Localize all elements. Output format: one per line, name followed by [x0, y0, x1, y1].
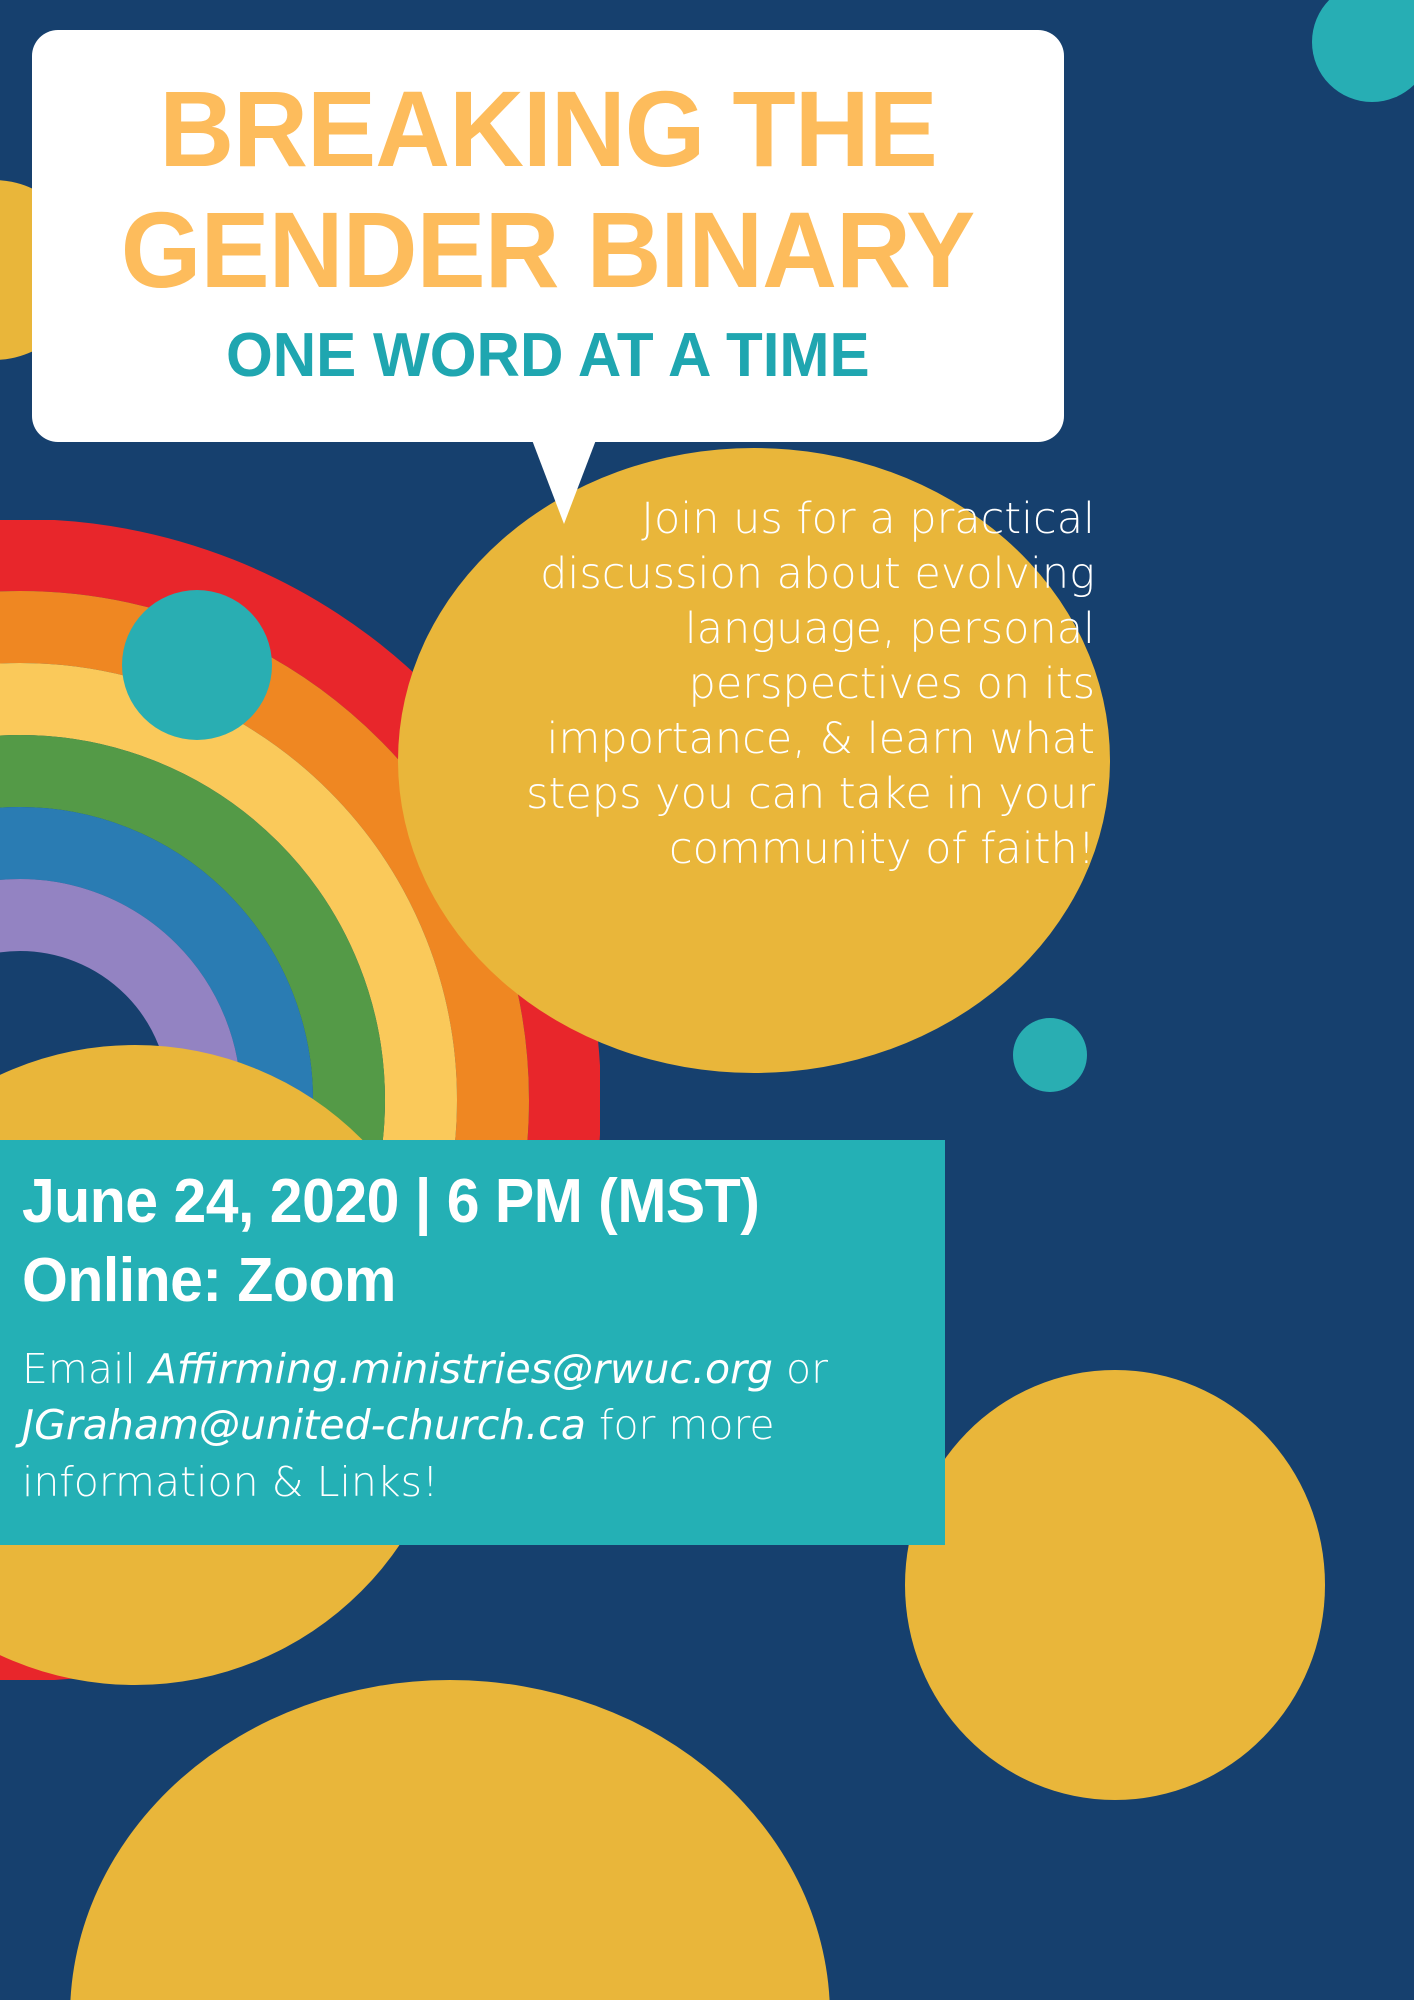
title-speech-bubble: BREAKING THE GENDER BINARY ONE WORD AT A… [32, 30, 1064, 442]
contact-email-secondary[interactable]: JGraham@united-church.ca [22, 1401, 586, 1449]
poster-title-line-2: GENDER BINARY [121, 190, 975, 311]
event-details-panel: June 24, 2020 | 6 PM (MST) Online: Zoom … [0, 1140, 945, 1545]
poster-canvas: BREAKING THE GENDER BINARY ONE WORD AT A… [0, 0, 1414, 2000]
yellow-shape-bottom-right-decoration [905, 1370, 1325, 1800]
yellow-shape-bottom-decoration [70, 1680, 830, 2000]
contact-email-primary[interactable]: Affirming.ministries@rwuc.org [149, 1345, 773, 1393]
poster-subtitle: ONE WORD AT A TIME [226, 317, 870, 395]
contact-conjunction-label: or [773, 1345, 828, 1393]
poster-body-text: Join us for a practical discussion about… [455, 492, 1095, 877]
contact-prefix-label: Email [22, 1345, 149, 1393]
teal-circle-left-decoration [122, 590, 272, 740]
contact-information: Email Affirming.ministries@rwuc.org or J… [22, 1341, 917, 1511]
poster-title-line-1: BREAKING THE [159, 69, 937, 190]
event-platform: Online: Zoom [22, 1241, 872, 1320]
event-date-time: June 24, 2020 | 6 PM (MST) [22, 1162, 872, 1241]
teal-circle-top-right-decoration [1312, 0, 1414, 102]
teal-circle-right-decoration [1013, 1018, 1087, 1092]
